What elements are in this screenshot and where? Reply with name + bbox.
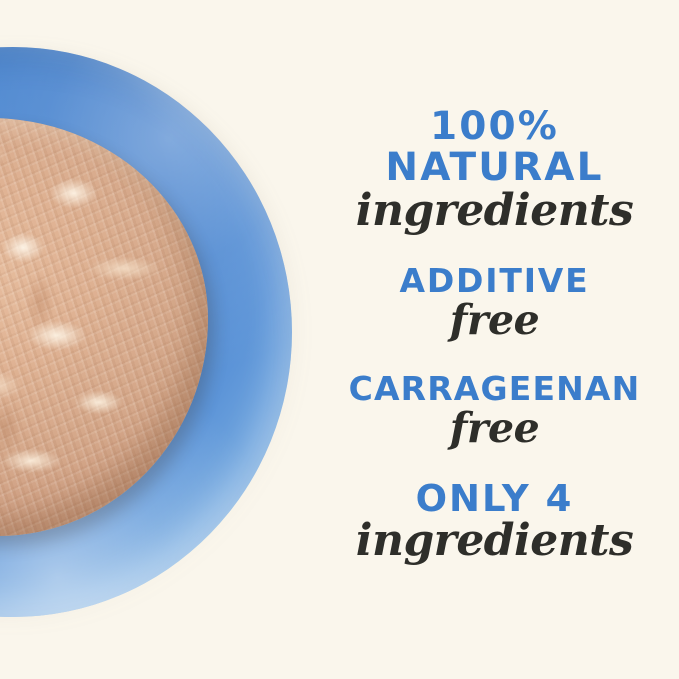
product-benefits-panel: 100% NATURAL ingredients ADDITIVE free C… xyxy=(0,0,679,679)
claim-carrageenan-free: CARRAGEENAN free xyxy=(310,372,679,450)
claims-list: 100% NATURAL ingredients ADDITIVE free C… xyxy=(310,0,679,679)
claim-subline-3: free xyxy=(310,407,679,450)
claim-natural-ingredients: 100% NATURAL ingredients xyxy=(310,107,679,234)
claim-subline-1: ingredients xyxy=(310,188,679,234)
claim-only-4-ingredients: ONLY 4 ingredients xyxy=(310,480,679,564)
claim-headline-3: CARRAGEENAN xyxy=(310,372,679,406)
claim-headline-4: ONLY 4 xyxy=(310,480,679,518)
claim-headline-1a: 100% xyxy=(310,107,679,148)
claim-headline-2: ADDITIVE xyxy=(310,264,679,298)
claim-subline-2: free xyxy=(310,299,679,342)
claim-subline-4: ingredients xyxy=(310,518,679,564)
claim-additive-free: ADDITIVE free xyxy=(310,264,679,342)
product-photo xyxy=(0,0,340,679)
claim-headline-1b: NATURAL xyxy=(310,148,679,189)
